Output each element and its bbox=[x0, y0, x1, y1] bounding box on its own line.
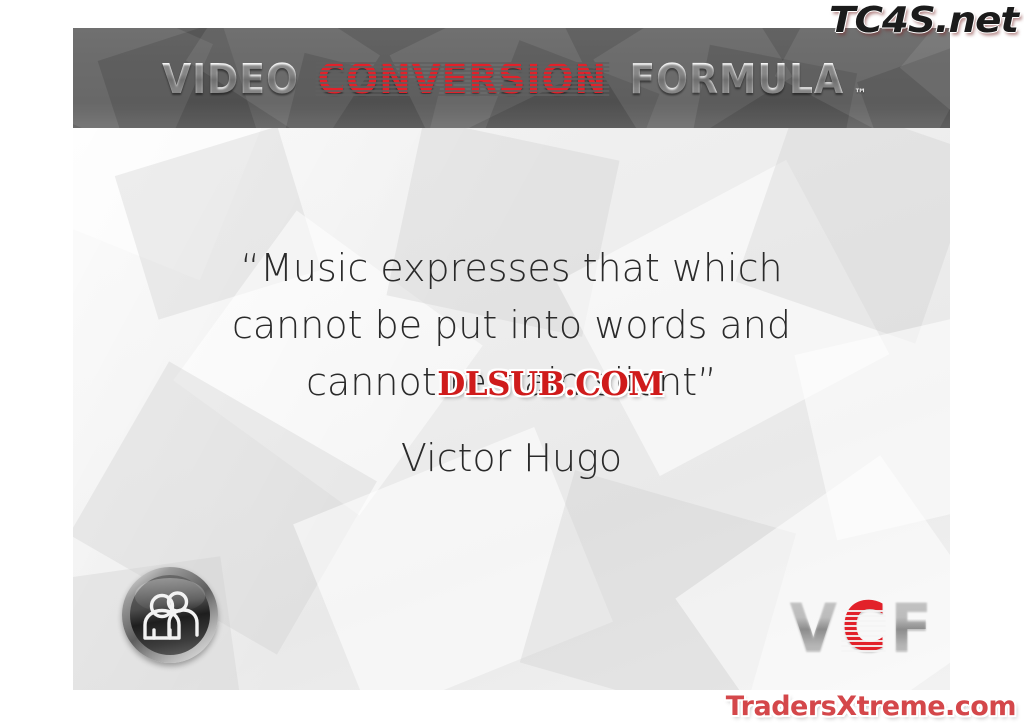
banner-title: VIDEOCONVERSIONFORMULA™ bbox=[73, 58, 950, 100]
header-banner: VIDEOCONVERSIONFORMULA™ bbox=[73, 28, 950, 128]
vcf-letter-c: C bbox=[841, 593, 885, 663]
users-icon bbox=[139, 589, 201, 641]
vcf-letter-v: V bbox=[790, 593, 836, 663]
slide-viewer: VIDEOCONVERSIONFORMULA™ “Music expresses… bbox=[0, 0, 1024, 724]
trademark-symbol: ™ bbox=[854, 87, 868, 102]
banner-word-formula: FORMULA bbox=[629, 58, 844, 100]
watermark-tradersxtreme: TradersXtreme.com bbox=[726, 692, 1016, 722]
quote-line-1: “Music expresses that which bbox=[73, 240, 950, 297]
vcf-logo: VCF bbox=[787, 593, 933, 663]
users-badge[interactable] bbox=[122, 567, 218, 663]
quote-attribution: Victor Hugo bbox=[73, 434, 950, 482]
vcf-letter-f: F bbox=[890, 593, 931, 663]
quote-line-2: cannot be put into words and bbox=[73, 297, 950, 354]
banner-word-video: VIDEO bbox=[162, 58, 299, 100]
bg-shard bbox=[520, 470, 796, 690]
presentation-slide: VIDEOCONVERSIONFORMULA™ “Music expresses… bbox=[73, 28, 950, 690]
watermark-dlsub: DLSUB.COM bbox=[437, 366, 663, 402]
watermark-tc4s: TC4S.net bbox=[829, 2, 1018, 40]
banner-word-conversion: CONVERSION bbox=[318, 58, 607, 100]
